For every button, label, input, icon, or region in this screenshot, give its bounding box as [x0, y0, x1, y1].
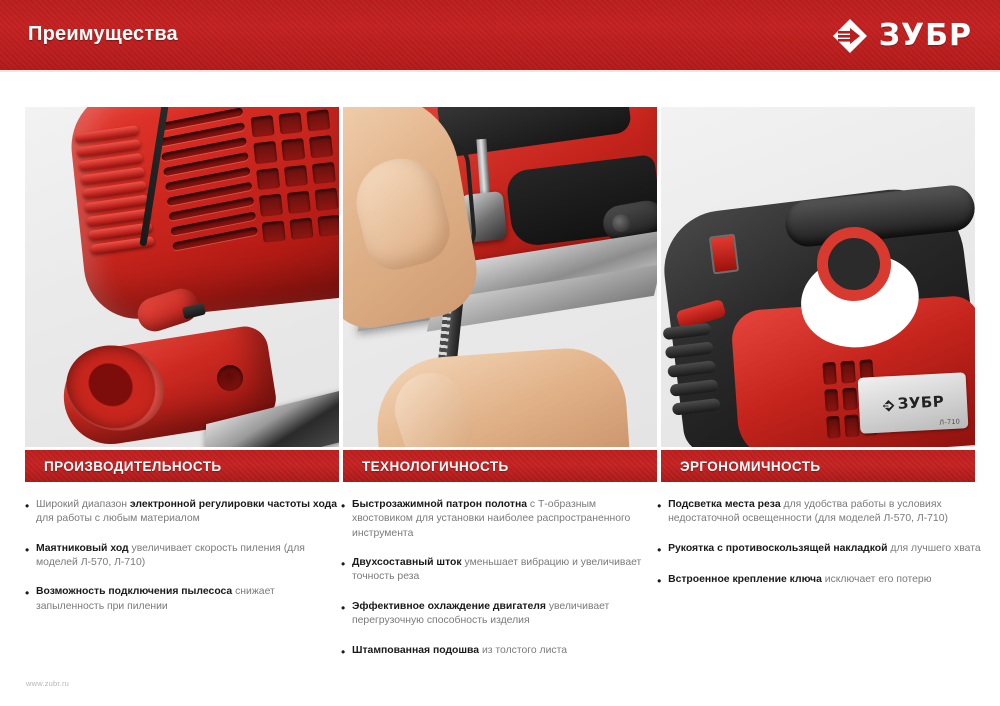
feature-bullet: •Штампованная подошва из толстого листа	[341, 644, 653, 661]
bullet-dot-icon: •	[657, 573, 668, 590]
feature-bullet: •Эффективное охлаждение двигателя увелич…	[341, 600, 653, 629]
feature-column-ergonomics: •Подсветка места реза для удобства работ…	[657, 498, 985, 675]
feature-bullet-text: Двухсоставный шток уменьшает вибрацию и …	[352, 556, 653, 585]
feature-bullet-text: Встроенное крепление ключа исключает его…	[668, 573, 985, 590]
jigsaw-motor-housing-photo	[25, 107, 339, 447]
feature-bullet-text: Подсветка места реза для удобства работы…	[668, 498, 985, 527]
bullet-dot-icon: •	[341, 600, 352, 629]
feature-bullet-text: Штампованная подошва из толстого листа	[352, 644, 653, 661]
feature-bullet: •Двухсоставный шток уменьшает вибрацию и…	[341, 556, 653, 585]
bullet-dot-icon: •	[657, 542, 668, 559]
caption-bar-performance: ПРОИЗВОДИТЕЛЬНОСТЬ	[25, 450, 339, 482]
feature-bullet: •Широкий диапазон электронной регулировк…	[25, 498, 337, 527]
footer-url: www.zubr.ru	[26, 679, 69, 688]
feature-bullet-text: Эффективное охлаждение двигателя увеличи…	[352, 600, 653, 629]
page-header: Преимущества ЗУБР	[0, 0, 1000, 72]
feature-columns: •Широкий диапазон электронной регулировк…	[25, 498, 985, 675]
brand-wordmark: ЗУБР	[879, 21, 972, 51]
product-nameplate: ЗУБР Л-710	[858, 372, 969, 434]
feature-bullet-text: Широкий диапазон электронной регулировки…	[36, 498, 337, 527]
caption-label: ЭРГОНОМИЧНОСТЬ	[680, 459, 820, 474]
blade-chuck-hands-photo	[343, 107, 657, 447]
bullet-dot-icon: •	[25, 498, 36, 527]
caption-label: ПРОИЗВОДИТЕЛЬНОСТЬ	[44, 459, 222, 474]
caption-label: ТЕХНОЛОГИЧНОСТЬ	[362, 459, 509, 474]
bullet-dot-icon: •	[341, 556, 352, 585]
feature-bullet-text: Маятниковый ход увеличивает скорость пил…	[36, 542, 337, 571]
feature-bullet: •Быстрозажимной патрон полотна с Т-образ…	[341, 498, 653, 541]
bullet-dot-icon: •	[657, 498, 668, 527]
feature-bullet: •Рукоятка с противоскользящей накладкой …	[657, 542, 985, 559]
bullet-dot-icon: •	[25, 585, 36, 614]
page-title: Преимущества	[28, 23, 178, 46]
power-switch	[709, 234, 739, 275]
feature-bullet-text: Возможность подключения пылесоса снижает…	[36, 585, 337, 614]
feature-column-performance: •Широкий диапазон электронной регулировк…	[25, 498, 337, 675]
feature-column-technology: •Быстрозажимной патрон полотна с Т-образ…	[341, 498, 653, 675]
bullet-dot-icon: •	[341, 644, 352, 661]
zubr-diamond-arrow-icon	[831, 17, 869, 55]
advantages-slide: Преимущества ЗУБР	[0, 0, 1000, 706]
feature-bullet: •Подсветка места реза для удобства работ…	[657, 498, 985, 527]
zubr-diamond-arrow-icon	[881, 397, 895, 411]
photo-panels: ЗУБР Л-710	[25, 107, 975, 447]
bullet-dot-icon: •	[341, 498, 352, 541]
brand-logo: ЗУБР	[831, 16, 972, 56]
caption-bar-technology: ТЕХНОЛОГИЧНОСТЬ	[343, 450, 657, 482]
feature-bullet: •Маятниковый ход увеличивает скорость пи…	[25, 542, 337, 571]
bullet-dot-icon: •	[25, 542, 36, 571]
caption-bars: ПРОИЗВОДИТЕЛЬНОСТЬ ТЕХНОЛОГИЧНОСТЬ ЭРГОН…	[25, 450, 975, 482]
caption-bar-ergonomics: ЭРГОНОМИЧНОСТЬ	[661, 450, 975, 482]
feature-bullet: •Встроенное крепление ключа исключает ег…	[657, 573, 985, 590]
nameplate-model: Л-710	[939, 419, 960, 427]
nameplate-brand: ЗУБР	[897, 392, 945, 412]
feature-bullet-text: Быстрозажимной патрон полотна с Т-образн…	[352, 498, 653, 541]
feature-bullet-text: Рукоятка с противоскользящей накладкой д…	[668, 542, 985, 559]
feature-bullet: •Возможность подключения пылесоса снижае…	[25, 585, 337, 614]
jigsaw-handle-photo: ЗУБР Л-710	[661, 107, 975, 447]
